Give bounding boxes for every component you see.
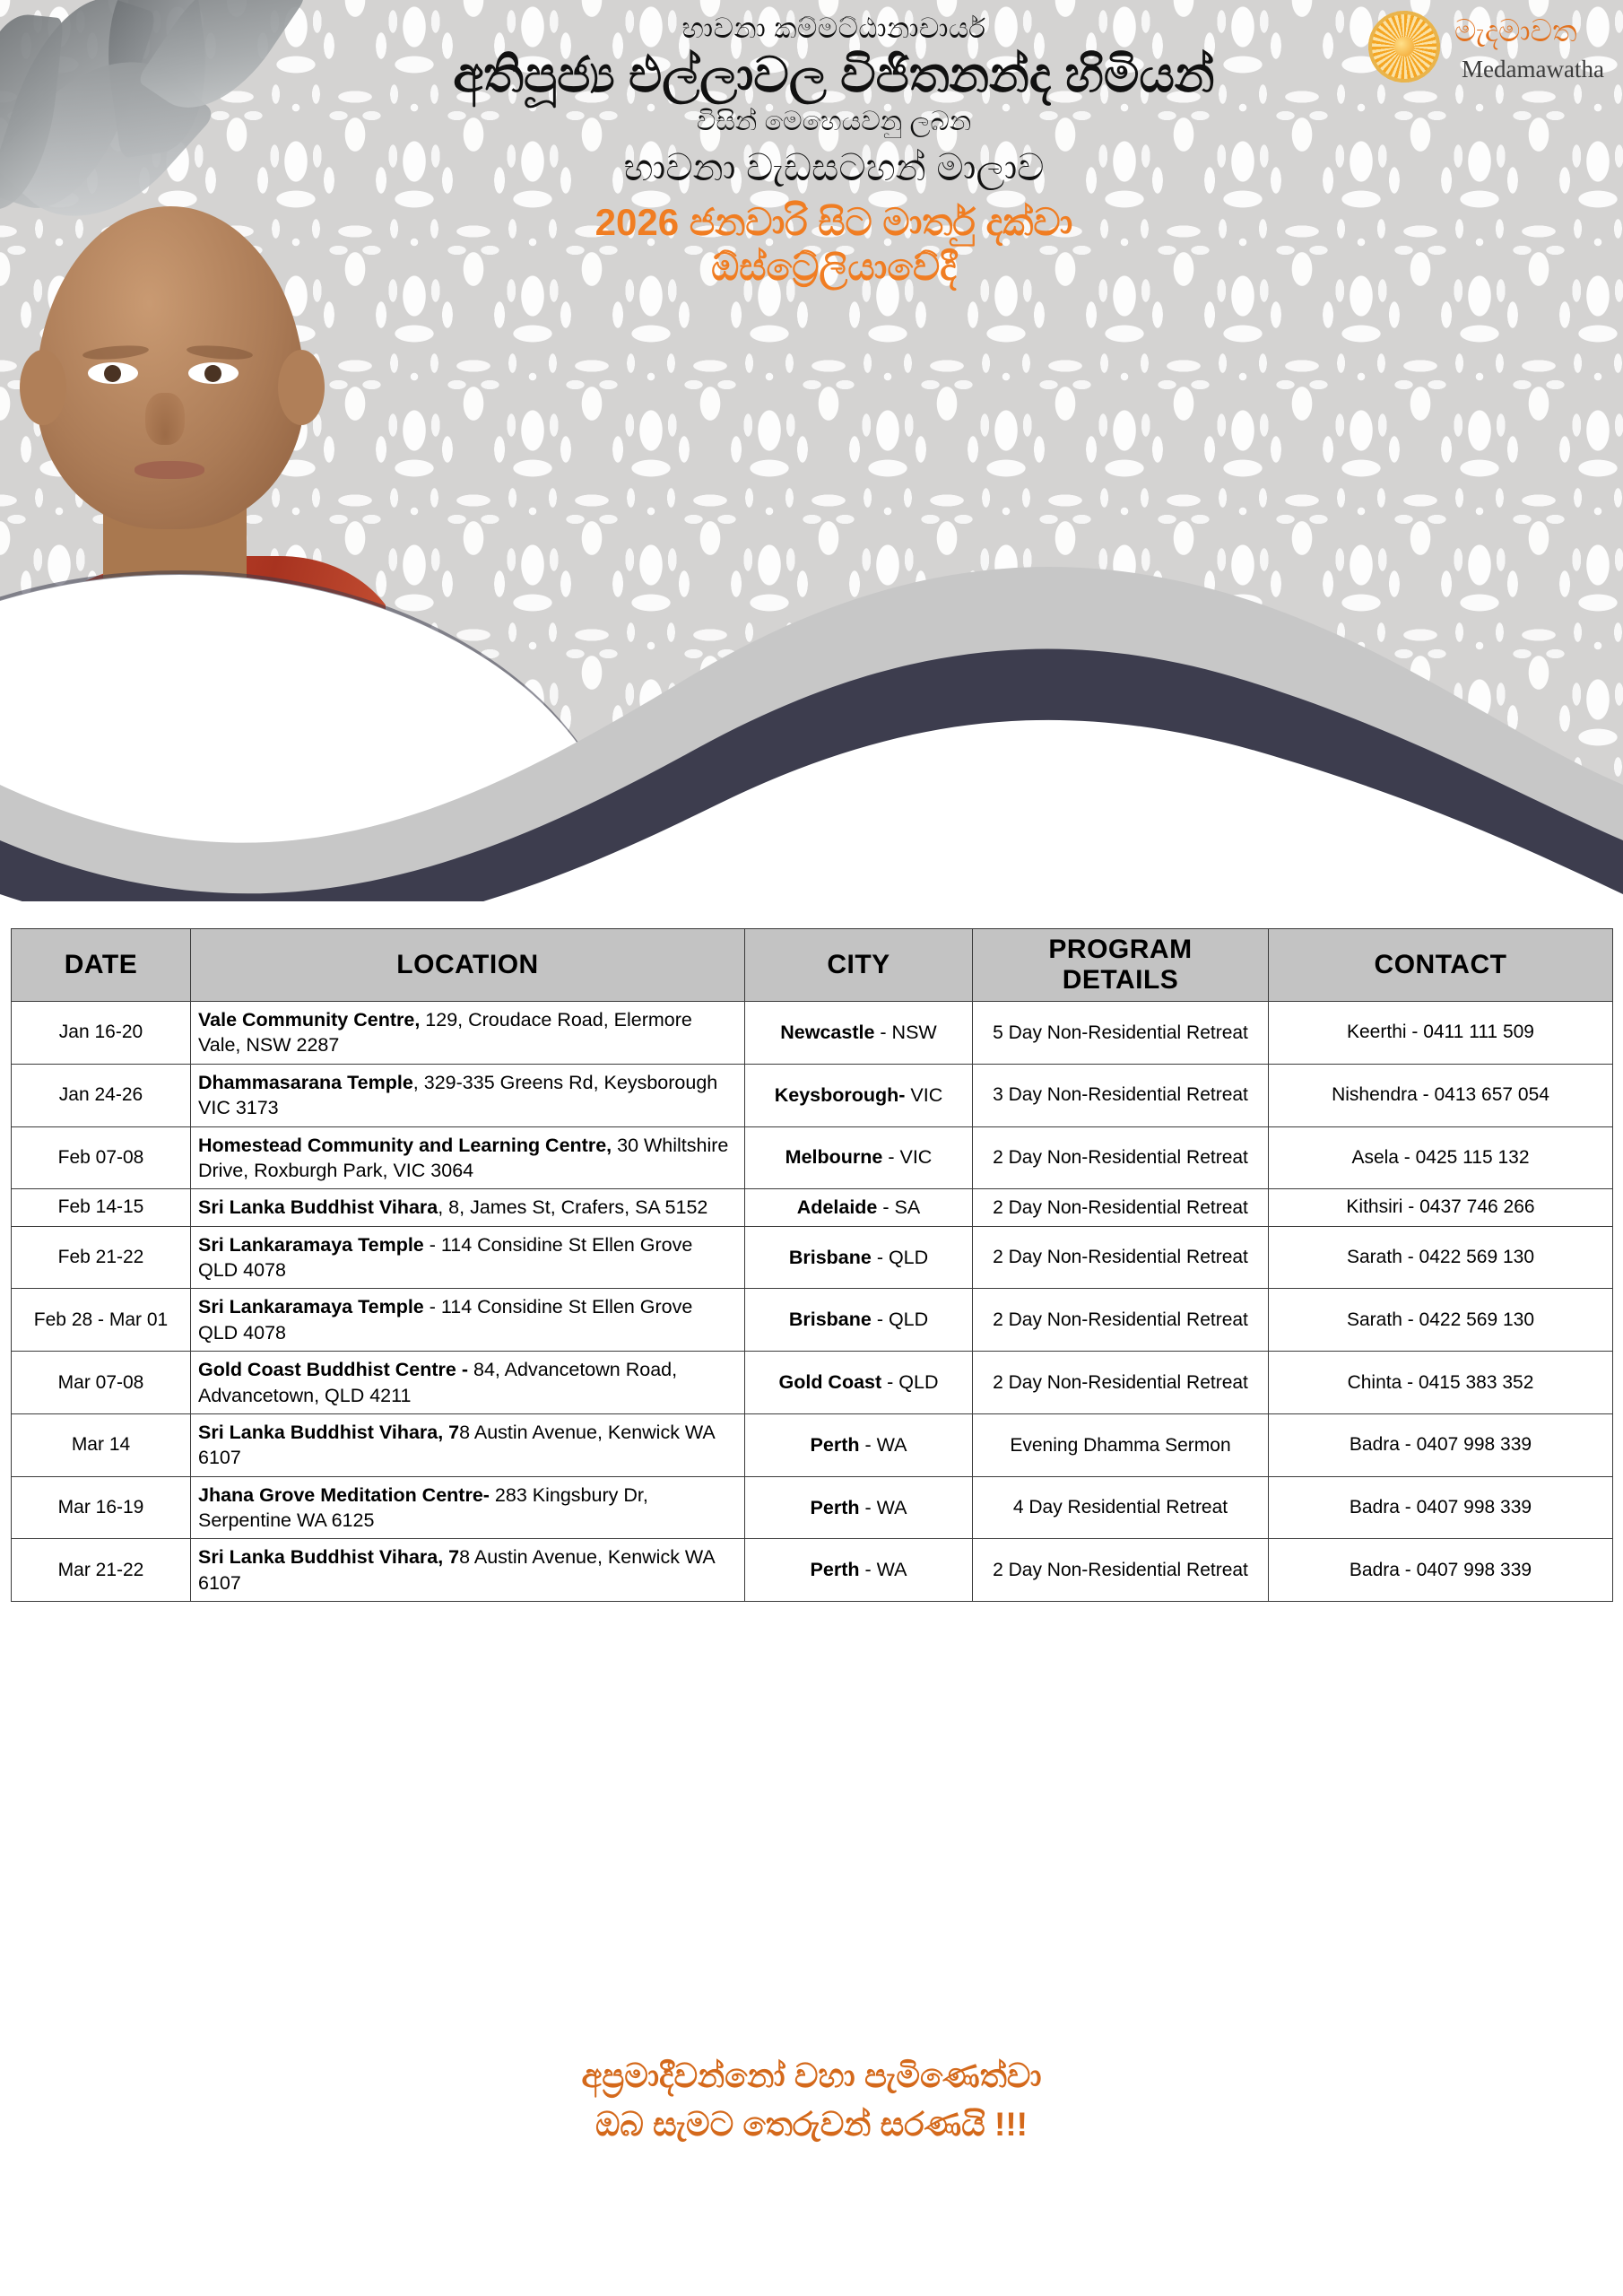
city-state: - QLD [872,1247,928,1268]
cell-date: Feb 21-22 [12,1226,191,1289]
eye-right [188,362,239,384]
column-header-date: DATE [12,929,191,1002]
cell-location: Homestead Community and Learning Centre,… [191,1126,745,1189]
city-state: - SA [877,1196,920,1218]
location-venue-name: Jhana Grove Meditation Centre- [198,1484,495,1506]
cell-location: Dhammasarana Temple, 329-335 Greens Rd, … [191,1064,745,1126]
cell-contact: Asela - 0425 115 132 [1269,1126,1613,1189]
table-header-row: DATE LOCATION CITY PROGRAM DETAILS CONTA… [12,929,1613,1002]
nose [145,393,185,445]
city-state: - VIC [882,1146,932,1168]
table-row: Feb 21-22Sri Lankaramaya Temple - 114 Co… [12,1226,1613,1289]
city-state: - WA [860,1434,907,1456]
city-state: VIC [905,1084,942,1106]
table-row: Feb 14-15Sri Lanka Buddhist Vihara, 8, J… [12,1189,1613,1226]
table-row: Mar 16-19Jhana Grove Meditation Centre- … [12,1476,1613,1539]
cell-program-details: 2 Day Non-Residential Retreat [973,1289,1269,1352]
cell-location: Sri Lankaramaya Temple - 114 Considine S… [191,1289,745,1352]
title-date-range: 2026 ජනවාරි සිට මාර්තු දක්වා [296,201,1372,244]
title-line-2: අතිපූජ්‍ය එල්ලාවල විජිතනන්ද හිමියන් [296,47,1372,103]
city-name: Brisbane [789,1309,872,1330]
cell-city: Adelaide - SA [745,1189,973,1226]
cell-contact: Nishendra - 0413 657 054 [1269,1064,1613,1126]
city-name: Perth [811,1434,860,1456]
cell-program-details: Evening Dhamma Sermon [973,1413,1269,1476]
cell-date: Mar 16-19 [12,1476,191,1539]
cell-date: Feb 07-08 [12,1126,191,1189]
cell-city: Brisbane - QLD [745,1289,973,1352]
cell-location: Sri Lanka Buddhist Vihara, 8, James St, … [191,1189,745,1226]
city-name: Perth [811,1497,860,1518]
city-name: Perth [811,1559,860,1580]
title-line-3: විසින් මෙහෙයවනු ලබන [296,107,1372,138]
table-body: Jan 16-20Vale Community Centre, 129, Cro… [12,1002,1613,1602]
cell-contact: Sarath - 0422 569 130 [1269,1289,1613,1352]
cell-program-details: 2 Day Non-Residential Retreat [973,1539,1269,1602]
city-name: Melbourne [785,1146,883,1168]
cell-date: Feb 14-15 [12,1189,191,1226]
table-row: Jan 24-26Dhammasarana Temple, 329-335 Gr… [12,1064,1613,1126]
title-line-4: භාවනා වැඩසටහන් මාලාව [296,146,1372,189]
column-header-city: CITY [745,929,973,1002]
table-row: Mar 07-08Gold Coast Buddhist Centre - 84… [12,1352,1613,1414]
table-row: Jan 16-20Vale Community Centre, 129, Cro… [12,1002,1613,1065]
location-venue-name: Homestead Community and Learning Centre, [198,1135,612,1156]
column-header-contact: CONTACT [1269,929,1613,1002]
cell-program-details: 5 Day Non-Residential Retreat [973,1002,1269,1065]
city-state: - QLD [881,1371,938,1393]
table-row: Mar 14Sri Lanka Buddhist Vihara, 78 Aust… [12,1413,1613,1476]
cell-location: Gold Coast Buddhist Centre - 84, Advance… [191,1352,745,1414]
footer-line-2: ඔබ සැමට තෙරුවන් සරණයි !!! [0,2100,1623,2149]
location-venue-name: Sri Lanka Buddhist Vihara [198,1196,438,1218]
location-venue-name: Sri Lanka Buddhist Vihara, 7 [198,1546,459,1568]
cell-date: Feb 28 - Mar 01 [12,1289,191,1352]
city-name: Adelaide [797,1196,878,1218]
table-row: Feb 07-08Homestead Community and Learnin… [12,1126,1613,1189]
cell-date: Jan 16-20 [12,1002,191,1065]
cell-contact: Kithsiri - 0437 746 266 [1269,1189,1613,1226]
cell-city: Newcastle - NSW [745,1002,973,1065]
city-name: Brisbane [789,1247,872,1268]
cell-program-details: 2 Day Non-Residential Retreat [973,1189,1269,1226]
title-line-1: භාවනා කම්මට්ඨානාචාර්ය [296,13,1372,45]
city-name: Newcastle [780,1022,874,1043]
cell-city: Perth - WA [745,1413,973,1476]
cell-city: Keysborough- VIC [745,1064,973,1126]
wave-graphic [0,489,1623,901]
logo-english-name: Medamawatha [1462,56,1604,83]
title-country: ඕස්ට්‍රේලියාවේදී [296,246,1372,289]
medamawatha-logo[interactable]: මැදමාවත Medamawatha [1368,7,1610,93]
city-state: - WA [860,1497,907,1518]
cell-program-details: 3 Day Non-Residential Retreat [973,1064,1269,1126]
column-header-program-line2: DETAILS [980,965,1261,996]
head [36,206,305,529]
footer-blessing: අප්‍රමාදීවන්නෝ වහා පැමිණෙත්වා ඔබ සැමට තෙ… [0,2052,1623,2148]
header-text-block: භාවනා කම්මට්ඨානාචාර්ය අතිපූජ්‍ය එල්ලාවල … [296,13,1372,289]
cell-date: Jan 24-26 [12,1064,191,1126]
cell-contact: Badra - 0407 998 339 [1269,1476,1613,1539]
cell-contact: Badra - 0407 998 339 [1269,1413,1613,1476]
column-header-program-details: PROGRAM DETAILS [973,929,1269,1002]
cell-city: Perth - WA [745,1539,973,1602]
city-name: Keysborough- [775,1084,906,1106]
cell-date: Mar 07-08 [12,1352,191,1414]
location-venue-name: Sri Lanka Buddhist Vihara, 7 [198,1422,459,1443]
mouth [135,461,204,479]
city-state: - QLD [872,1309,928,1330]
cell-location: Jhana Grove Meditation Centre- 283 Kings… [191,1476,745,1539]
cell-city: Brisbane - QLD [745,1226,973,1289]
cell-contact: Badra - 0407 998 339 [1269,1539,1613,1602]
ear-left [20,350,66,425]
cell-date: Mar 21-22 [12,1539,191,1602]
location-venue-name: Sri Lankaramaya Temple [198,1296,424,1318]
footer-line-1: අප්‍රමාදීවන්නෝ වහා පැමිණෙත්වා [0,2052,1623,2100]
cell-contact: Keerthi - 0411 111 509 [1269,1002,1613,1065]
cell-contact: Chinta - 0415 383 352 [1269,1352,1613,1414]
location-address: , 8, James St, Crafers, SA 5152 [438,1196,707,1218]
cell-location: Sri Lanka Buddhist Vihara, 78 Austin Ave… [191,1413,745,1476]
dharma-wheel-hub-icon [1394,37,1414,57]
location-venue-name: Vale Community Centre, [198,1009,420,1031]
logo-sinhala-name: මැදමාවත [1454,14,1577,49]
cell-program-details: 4 Day Residential Retreat [973,1476,1269,1539]
cell-contact: Sarath - 0422 569 130 [1269,1226,1613,1289]
cell-program-details: 2 Day Non-Residential Retreat [973,1352,1269,1414]
eye-left [88,362,138,384]
cell-location: Vale Community Centre, 129, Croudace Roa… [191,1002,745,1065]
schedule-table-wrapper: DATE LOCATION CITY PROGRAM DETAILS CONTA… [11,928,1612,1602]
location-venue-name: Sri Lankaramaya Temple [198,1234,424,1256]
header-banner: භාවනා කම්මට්ඨානාචාර්ය අතිපූජ්‍ය එල්ලාවල … [0,0,1623,901]
location-venue-name: Dhammasarana Temple [198,1072,413,1093]
ear-right [278,350,325,425]
cell-location: Sri Lanka Buddhist Vihara, 78 Austin Ave… [191,1539,745,1602]
column-header-program-line1: PROGRAM [980,935,1261,965]
location-venue-name: Gold Coast Buddhist Centre - [198,1359,473,1380]
cell-city: Melbourne - VIC [745,1126,973,1189]
city-state: - WA [860,1559,907,1580]
cell-program-details: 2 Day Non-Residential Retreat [973,1226,1269,1289]
cell-date: Mar 14 [12,1413,191,1476]
cell-program-details: 2 Day Non-Residential Retreat [973,1126,1269,1189]
schedule-table: DATE LOCATION CITY PROGRAM DETAILS CONTA… [11,928,1613,1602]
cell-location: Sri Lankaramaya Temple - 114 Considine S… [191,1226,745,1289]
city-name: Gold Coast [779,1371,882,1393]
column-header-location: LOCATION [191,929,745,1002]
city-state: - NSW [874,1022,936,1043]
table-row: Mar 21-22Sri Lanka Buddhist Vihara, 78 A… [12,1539,1613,1602]
table-row: Feb 28 - Mar 01Sri Lankaramaya Temple - … [12,1289,1613,1352]
cell-city: Perth - WA [745,1476,973,1539]
cell-city: Gold Coast - QLD [745,1352,973,1414]
